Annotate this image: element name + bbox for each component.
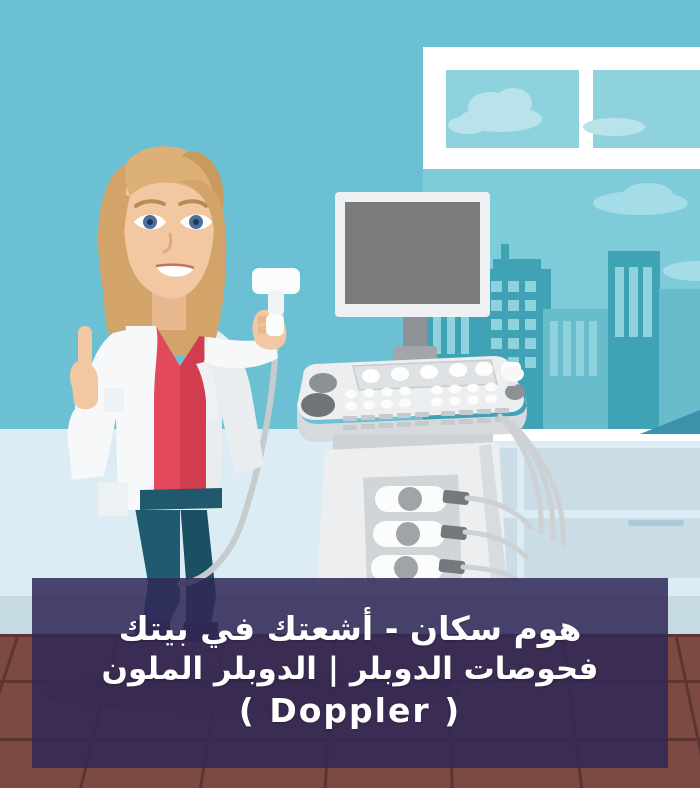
console-button	[449, 363, 467, 377]
floor-line	[672, 634, 700, 788]
doctor-pointing-hand	[70, 326, 98, 409]
window-pane-left	[446, 70, 579, 148]
caption-line-1: هوم سكان - أشعتك في بيتك	[119, 608, 582, 650]
cloud-outside-3	[663, 261, 700, 281]
building-5-window	[576, 321, 584, 376]
cabinet-handle-2	[628, 520, 684, 526]
window-sill	[423, 155, 700, 169]
console-button	[362, 369, 380, 383]
ultrasound-monitor	[335, 192, 490, 368]
ultrasound-console	[297, 356, 527, 442]
doctor-coat-pocket-top	[104, 388, 124, 412]
doctor-waistband	[140, 488, 222, 510]
window-pane-right	[593, 70, 700, 148]
building-7	[659, 289, 700, 429]
caption-line-2: فحوصات الدوبلر | الدوبلر الملون	[102, 650, 599, 690]
building-6-window	[643, 267, 652, 337]
wall-corner-shade	[600, 410, 700, 434]
console-button	[475, 362, 493, 376]
console-button	[391, 367, 409, 381]
building-5-window	[589, 321, 597, 376]
female-doctor	[30, 130, 330, 650]
doctor-coat-pocket	[98, 482, 128, 516]
building-6-window	[615, 267, 624, 337]
caption-overlay: هوم سكان - أشعتك في بيتك فحوصات الدوبلر …	[32, 578, 668, 768]
console-button	[420, 365, 438, 379]
illustration-banner: هوم سكان - أشعتك في بيتك فحوصات الدوبلر …	[0, 0, 700, 788]
cloud-outside-2	[623, 183, 673, 207]
cloud-icon	[583, 118, 645, 136]
doctor-index-finger	[78, 326, 92, 370]
caption-line-3: ( Doppler )	[239, 690, 461, 732]
building-6-window	[629, 267, 638, 337]
floor-line	[0, 634, 23, 788]
ultrasound-base	[317, 434, 507, 584]
cloud-icon	[448, 116, 488, 134]
cloud-icon	[494, 88, 532, 118]
